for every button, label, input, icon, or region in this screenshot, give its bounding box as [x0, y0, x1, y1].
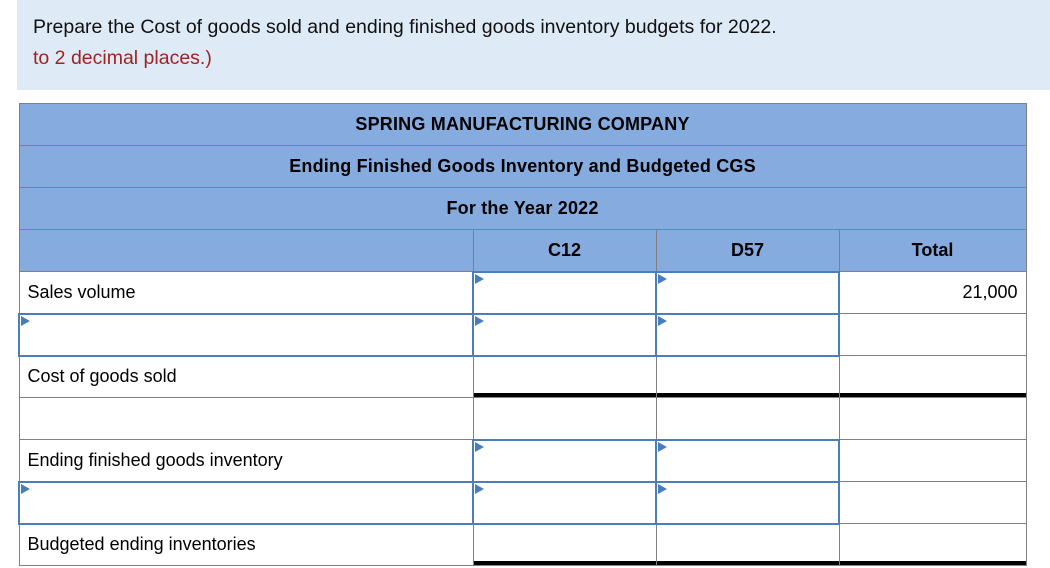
column-header-total: Total [839, 230, 1026, 272]
input-row6-c12[interactable] [473, 482, 656, 524]
table-title-row-1: SPRING MANUFACTURING COMPANY [19, 104, 1026, 146]
input-row6-d57[interactable] [656, 482, 839, 524]
column-header-d57: D57 [656, 230, 839, 272]
row-label-cost-of-goods-sold: Cost of goods sold [19, 356, 473, 398]
instruction-line-2: to 2 decimal places.) [33, 43, 1050, 74]
row-label-sales-volume: Sales volume [19, 272, 473, 314]
period-title: For the Year 2022 [19, 188, 1026, 230]
column-header-label [19, 230, 473, 272]
value-cogs-total[interactable] [839, 356, 1026, 398]
worksheet-page: Prepare the Cost of goods sold and endin… [0, 0, 1050, 568]
table-row [19, 482, 1026, 524]
dropdown-triangle-icon [475, 442, 484, 452]
dropdown-triangle-icon [658, 484, 667, 494]
input-ending-fg-d57[interactable] [656, 440, 839, 482]
table-row: Budgeted ending inventories [19, 524, 1026, 566]
dropdown-triangle-icon [475, 484, 484, 494]
dropdown-triangle-icon [658, 274, 667, 284]
value-budgeted-ending-d57[interactable] [656, 524, 839, 566]
value-budgeted-ending-total[interactable] [839, 524, 1026, 566]
company-title: SPRING MANUFACTURING COMPANY [19, 104, 1026, 146]
table-row [19, 314, 1026, 356]
column-header-row: C12 D57 Total [19, 230, 1026, 272]
table-row: Cost of goods sold [19, 356, 1026, 398]
row-label-ending-finished-goods-inventory: Ending finished goods inventory [19, 440, 473, 482]
input-row6-label[interactable] [19, 482, 473, 524]
input-row2-label[interactable] [19, 314, 473, 356]
dropdown-triangle-icon [475, 274, 484, 284]
table-title-row-3: For the Year 2022 [19, 188, 1026, 230]
statement-title: Ending Finished Goods Inventory and Budg… [19, 146, 1026, 188]
column-header-c12: C12 [473, 230, 656, 272]
value-row2-total [839, 314, 1026, 356]
value-blank1-d57[interactable] [656, 398, 839, 440]
value-cogs-c12[interactable] [473, 356, 656, 398]
dropdown-triangle-icon [21, 316, 30, 326]
instruction-banner: Prepare the Cost of goods sold and endin… [17, 0, 1050, 90]
dropdown-triangle-icon [475, 316, 484, 326]
dropdown-triangle-icon [21, 484, 30, 494]
dropdown-triangle-icon [658, 316, 667, 326]
budget-table: SPRING MANUFACTURING COMPANY Ending Fini… [18, 103, 1027, 566]
value-cogs-d57[interactable] [656, 356, 839, 398]
input-ending-fg-c12[interactable] [473, 440, 656, 482]
table-title-row-2: Ending Finished Goods Inventory and Budg… [19, 146, 1026, 188]
value-sales-volume-total: 21,000 [839, 272, 1026, 314]
value-budgeted-ending-c12[interactable] [473, 524, 656, 566]
input-row2-d57[interactable] [656, 314, 839, 356]
value-blank1-c12[interactable] [473, 398, 656, 440]
row-label-budgeted-ending-inventories: Budgeted ending inventories [19, 524, 473, 566]
row-label-blank-1 [19, 398, 473, 440]
input-sales-volume-c12[interactable] [473, 272, 656, 314]
table-row: Sales volume 21,000 [19, 272, 1026, 314]
table-row: Ending finished goods inventory [19, 440, 1026, 482]
input-row2-c12[interactable] [473, 314, 656, 356]
dropdown-triangle-icon [658, 442, 667, 452]
value-row6-total [839, 482, 1026, 524]
value-ending-fg-total [839, 440, 1026, 482]
value-blank1-total[interactable] [839, 398, 1026, 440]
table-row [19, 398, 1026, 440]
instruction-line-1: Prepare the Cost of goods sold and endin… [33, 12, 1050, 43]
input-sales-volume-d57[interactable] [656, 272, 839, 314]
